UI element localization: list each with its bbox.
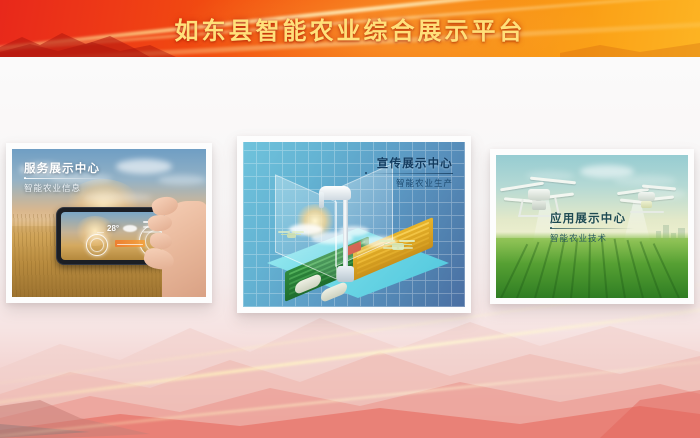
- caption-rule: [365, 173, 453, 174]
- card-promotion-caption: 宣传展示中心 智能农业生产: [365, 156, 453, 189]
- hud-bar: [97, 232, 104, 233]
- card-promotion-image: 宣传展示中心 智能农业生产: [243, 142, 465, 307]
- card-application-subtitle: 智能农业技术: [550, 232, 634, 244]
- card-application-display-center[interactable]: 应用展示中心 智能农业技术: [490, 149, 694, 304]
- hud-bar: [117, 244, 143, 245]
- drone-rotor: [379, 240, 395, 242]
- hud-ring-small-inner: [90, 238, 104, 252]
- card-service-subtitle: 智能农业信息: [24, 182, 108, 194]
- control-box: [337, 266, 354, 282]
- drone-body: [528, 189, 550, 200]
- drone-arm: [281, 234, 301, 235]
- cloud: [116, 159, 172, 174]
- spray-tank: [641, 201, 652, 208]
- drone-skid: [630, 211, 664, 213]
- hand: [162, 201, 206, 297]
- platform-landing-page: 如东县智能农业综合展示平台 28°: [0, 0, 700, 438]
- drone-large: [381, 236, 415, 252]
- card-service-caption: 服务展示中心 智能农业信息: [24, 161, 108, 194]
- caption-dot: [365, 172, 367, 174]
- weather-cloud-icon: [123, 225, 137, 232]
- cloud: [158, 175, 206, 185]
- card-promotion-subtitle: 智能农业生产: [365, 177, 453, 189]
- caption-rule: [550, 228, 634, 229]
- card-promotion-display-center[interactable]: 宣传展示中心 智能农业生产: [237, 136, 471, 313]
- caption-dot: [24, 177, 26, 179]
- caption-rule: [24, 178, 108, 179]
- drone-arm: [384, 244, 412, 245]
- drone-small: [279, 228, 303, 240]
- spray-tank: [532, 201, 546, 210]
- card-application-title: 应用展示中心: [550, 211, 634, 225]
- temperature-readout: 28°: [107, 224, 119, 233]
- card-application-image: 应用展示中心 智能农业技术: [496, 155, 688, 298]
- header-banner: 如东县智能农业综合展示平台: [0, 0, 700, 57]
- card-service-image: 28°: [12, 149, 206, 297]
- caption-dot: [550, 227, 552, 229]
- lamp-arm: [319, 192, 324, 208]
- card-service-title: 服务展示中心: [24, 161, 108, 175]
- drone-rotor: [399, 240, 415, 242]
- card-service-display-center[interactable]: 28°: [6, 143, 212, 303]
- card-promotion-title: 宣传展示中心: [365, 156, 453, 170]
- card-application-caption: 应用展示中心 智能农业技术: [550, 211, 634, 244]
- lamp-post: [343, 194, 348, 272]
- drone-body: [638, 192, 655, 201]
- page-title: 如东县智能农业综合展示平台: [0, 0, 700, 57]
